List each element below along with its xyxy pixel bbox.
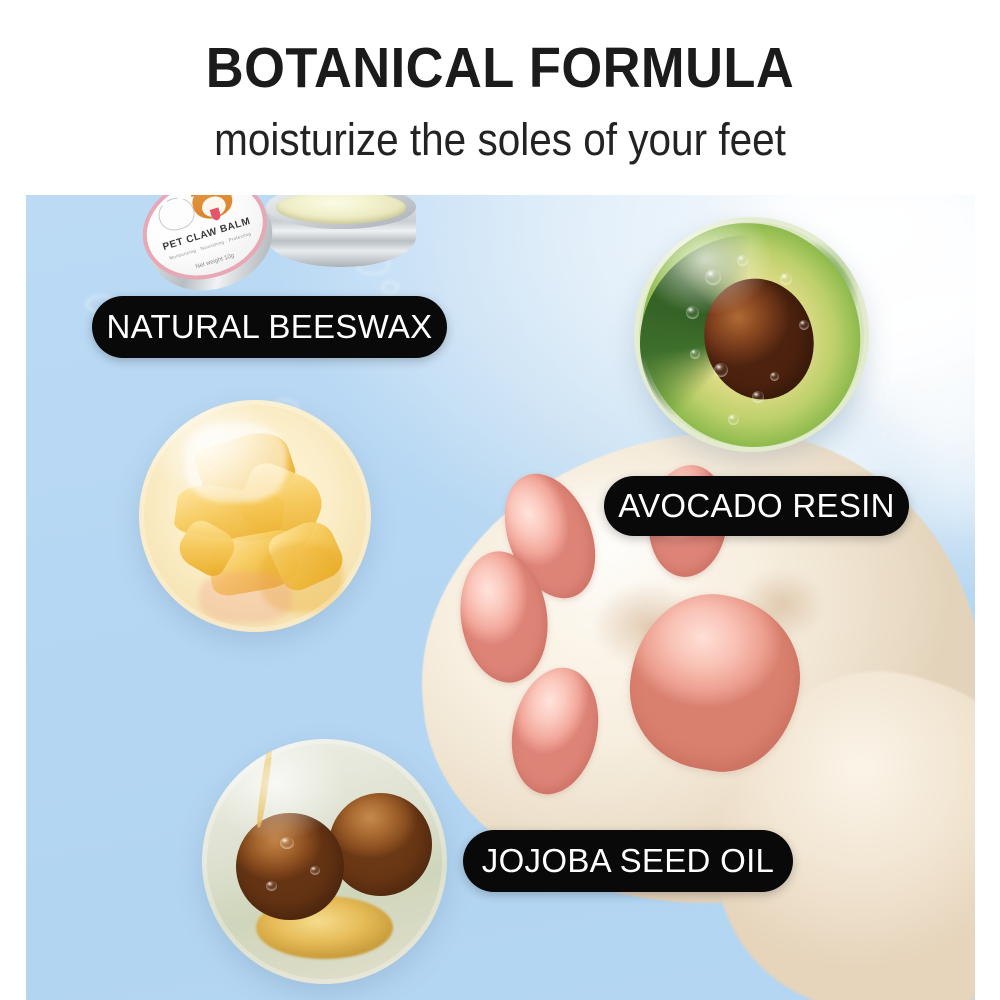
product-infographic: BOTANICAL FORMULA moisturize the soles o…: [0, 0, 1000, 1000]
jojoba-image: [202, 739, 447, 984]
avocado-image: [634, 217, 869, 452]
jojoba-nut: [329, 793, 432, 896]
ingredient-label-jojoba: JOJOBA SEED OIL: [463, 830, 793, 892]
tin-lid: PET CLAW BALM Moisturizing · Nourishing …: [130, 195, 290, 310]
water-droplet-icon: [686, 306, 699, 319]
dog-ear-left-icon: [188, 195, 203, 197]
jojoba-nut: [236, 813, 344, 921]
beeswax-image: [139, 400, 371, 632]
tin-base: [266, 195, 416, 277]
product-tin: PET CLAW BALM Moisturizing · Nourishing …: [144, 195, 414, 297]
ingredient-label-beeswax: NATURAL BEESWAX: [92, 296, 447, 358]
water-droplet-icon: [690, 349, 700, 359]
ingredient-sphere-beeswax: [139, 400, 371, 632]
ingredient-sphere-avocado: [634, 217, 869, 452]
ingredient-sphere-jojoba: [202, 739, 447, 984]
water-droplet-icon: [752, 391, 764, 403]
water-droplet-icon: [780, 273, 792, 285]
product-photo: PET CLAW BALM Moisturizing · Nourishing …: [26, 195, 975, 1000]
water-droplet-icon: [799, 320, 809, 330]
page-title: BOTANICAL FORMULA: [40, 40, 960, 97]
page-subtitle: moisturize the soles of your feet: [50, 117, 950, 162]
header-text-block: BOTANICAL FORMULA moisturize the soles o…: [0, 0, 1000, 195]
oil-droplet-icon: [266, 881, 277, 891]
water-droplet-icon: [714, 363, 728, 377]
water-droplet-icon: [737, 255, 748, 266]
ingredient-label-avocado: AVOCADO RESIN: [604, 476, 909, 536]
beeswax-highlight: [185, 423, 287, 502]
beeswax-shade: [199, 572, 292, 623]
water-droplet-icon: [705, 269, 721, 285]
dog-face-icon: [188, 195, 236, 223]
